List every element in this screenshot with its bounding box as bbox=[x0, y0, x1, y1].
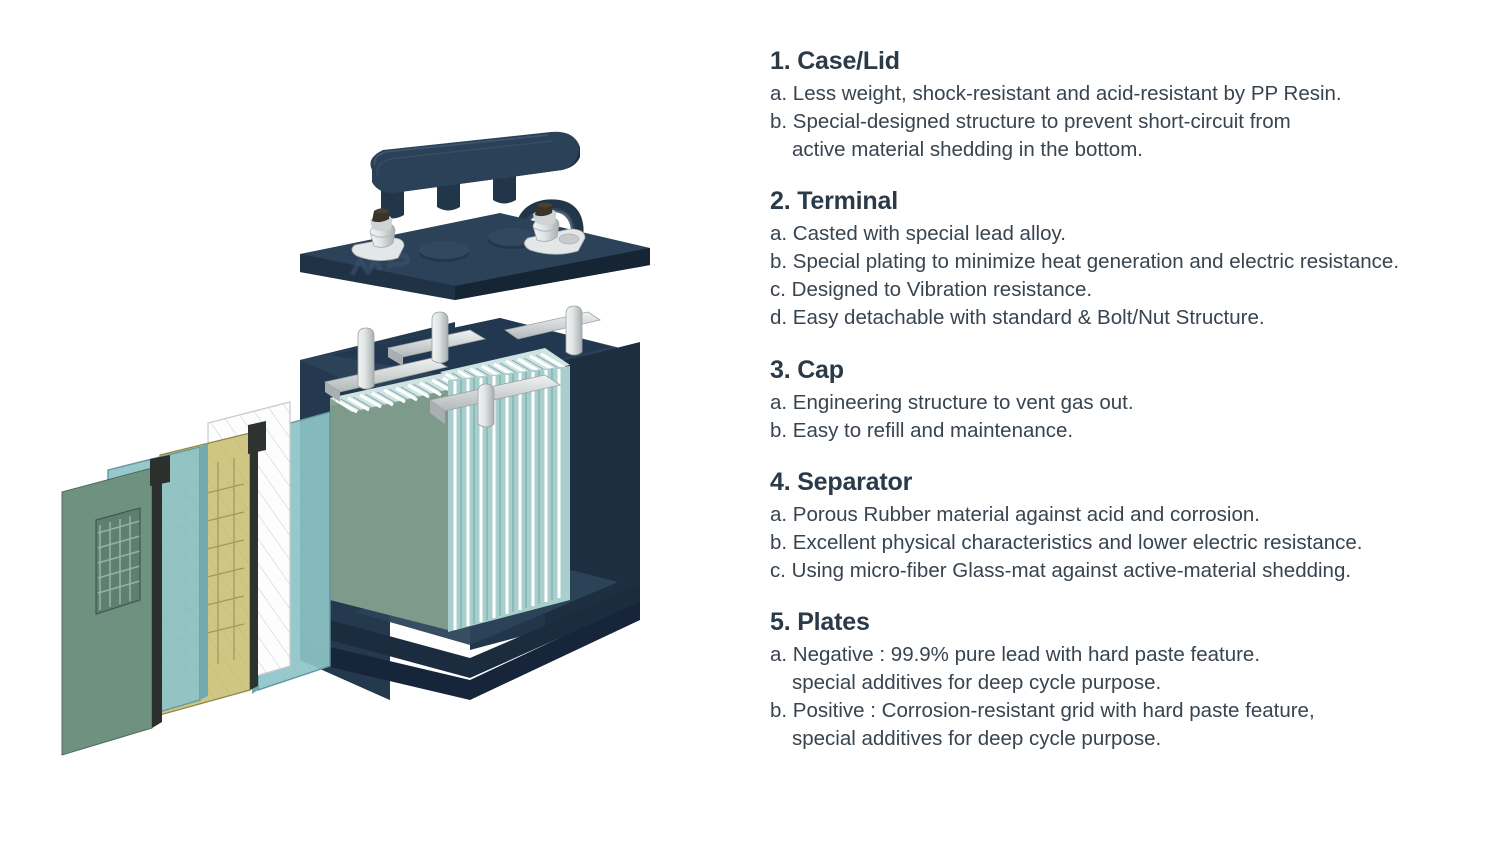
spec-heading: 3. Cap bbox=[770, 355, 1470, 385]
spec-section-terminal: 2. Terminal a. Casted with special lead … bbox=[770, 186, 1470, 332]
spec-heading: 1. Case/Lid bbox=[770, 46, 1470, 76]
spec-heading: 4. Separator bbox=[770, 467, 1470, 497]
spec-heading: 5. Plates bbox=[770, 607, 1470, 637]
spec-item: a. Negative : 99.9% pure lead with hard … bbox=[770, 641, 1470, 669]
spec-item: b. Special-designed structure to prevent… bbox=[770, 108, 1470, 136]
spec-item: c. Designed to Vibration resistance. bbox=[770, 276, 1470, 304]
specification-list: 1. Case/Lid a. Less weight, shock-resist… bbox=[770, 46, 1470, 753]
spec-item: a. Engineering structure to vent gas out… bbox=[770, 389, 1470, 417]
spec-item: active material shedding in the bottom. bbox=[770, 136, 1470, 164]
spec-item: c. Using micro-fiber Glass-mat against a… bbox=[770, 557, 1470, 585]
negative-grid-window bbox=[96, 508, 140, 614]
plate-negative bbox=[62, 455, 170, 755]
battery-exploded-view-page: 1. Case/Lid a. Less weight, shock-resist… bbox=[0, 0, 1500, 852]
spec-section-plates: 5. Plates a. Negative : 99.9% pure lead … bbox=[770, 607, 1470, 753]
positive-plate-lug bbox=[248, 421, 266, 454]
spec-section-cap: 3. Cap a. Engineering structure to vent … bbox=[770, 355, 1470, 445]
spec-item: a. Less weight, shock-resistant and acid… bbox=[770, 80, 1470, 108]
spec-item: a. Casted with special lead alloy. bbox=[770, 220, 1470, 248]
spec-item: b. Easy to refill and maintenance. bbox=[770, 417, 1470, 445]
lid-part bbox=[300, 202, 650, 300]
spec-item: b. Positive : Corrosion-resistant grid w… bbox=[770, 697, 1470, 725]
spec-item: d. Easy detachable with standard & Bolt/… bbox=[770, 304, 1470, 332]
negative-plate-lug bbox=[150, 455, 170, 486]
negative-plate-edge bbox=[152, 463, 162, 728]
spec-heading: 2. Terminal bbox=[770, 186, 1470, 216]
spec-section-case-lid: 1. Case/Lid a. Less weight, shock-resist… bbox=[770, 46, 1470, 164]
spec-section-separator: 4. Separator a. Porous Rubber material a… bbox=[770, 467, 1470, 585]
spec-item: b. Excellent physical characteristics an… bbox=[770, 529, 1470, 557]
spec-item: special additives for deep cycle purpose… bbox=[770, 725, 1470, 753]
spec-item: a. Porous Rubber material against acid a… bbox=[770, 501, 1470, 529]
spec-item: special additives for deep cycle purpose… bbox=[770, 669, 1470, 697]
spec-item: b. Special plating to minimize heat gene… bbox=[770, 248, 1470, 276]
battery-illustration bbox=[0, 0, 740, 852]
